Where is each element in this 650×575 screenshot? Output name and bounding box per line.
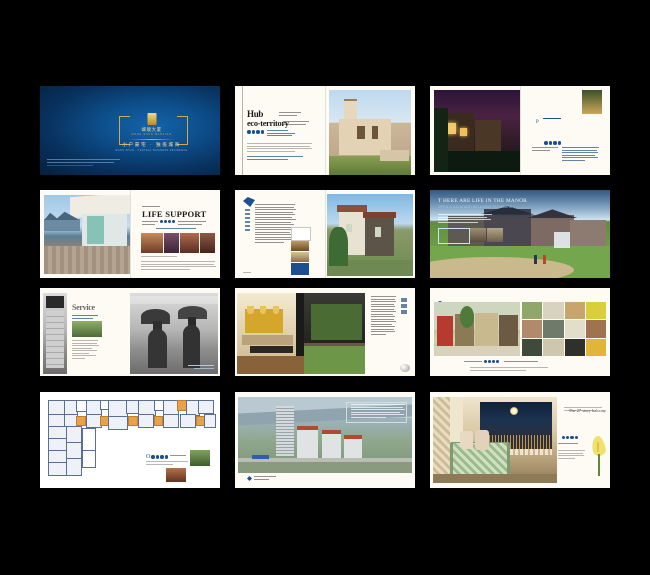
gallery-canvas: 嵘顺大厦 RONG SHUN MANSION 小户豪宅 · 独揽城商 RONG …	[0, 0, 650, 575]
thumb-strip	[141, 233, 215, 253]
plan-thumb-1	[190, 450, 210, 466]
seal-icon	[400, 364, 410, 372]
page-left: Hub eco-territory	[235, 86, 325, 175]
inset-blank	[291, 227, 311, 241]
night-body	[562, 147, 600, 162]
logo-mark: P	[536, 110, 561, 128]
photo-villa	[329, 90, 411, 175]
inset-blue	[291, 263, 309, 275]
spread-service[interactable]: Service	[40, 288, 220, 376]
night-badge-dots	[544, 141, 561, 145]
crest-icon	[147, 113, 156, 125]
spread-night-villa[interactable]: P	[430, 86, 610, 175]
manor-inset-3	[554, 232, 570, 248]
cover-tagline: 小户豪宅 · 独揽城商	[122, 142, 180, 148]
shopping-footer-body	[470, 367, 550, 372]
spread-balcony[interactable]: The 27 story balcony	[430, 392, 610, 488]
bracket-left	[119, 116, 130, 145]
diamond-icon	[247, 476, 252, 481]
cover-divider	[129, 139, 175, 140]
shopping-tile-grid	[522, 302, 606, 356]
manor-body	[438, 214, 494, 224]
cover-subline: RONG SHUN · CENTRAL BUSINESS RESIDENCE	[116, 150, 188, 152]
aerial-callout	[351, 404, 407, 419]
hub-body	[247, 143, 313, 153]
service-headline: Service	[72, 304, 95, 312]
service-body	[72, 340, 100, 360]
balcony-badge-dots	[562, 436, 578, 439]
spread-vertical-copy[interactable]	[235, 190, 415, 278]
page-left	[235, 190, 325, 278]
ls-badge-dots	[160, 220, 175, 223]
spread-interior[interactable]	[235, 288, 415, 376]
page-left	[40, 190, 130, 278]
page-left: Service	[40, 288, 130, 376]
spread-shopping[interactable]: S hopping	[430, 288, 610, 376]
inset-room	[291, 241, 309, 251]
calla-lily-icon	[590, 436, 606, 476]
photo-dining	[237, 293, 365, 374]
ls-body	[141, 261, 217, 271]
manor-inset-1	[470, 228, 486, 242]
hub-badge-dots	[247, 130, 264, 134]
cover-brand-cn: 嵘顺大厦	[142, 127, 162, 133]
plan-legend-glyph: O	[146, 454, 150, 460]
life-support-headline: LIFE SUPPORT	[142, 210, 206, 219]
spread-manor[interactable]: T HERE ARE LIFE IN THE MANOR OPEN A CALM…	[430, 190, 610, 278]
shopping-footer-dots	[484, 360, 499, 363]
photo-night-courtyard	[434, 90, 520, 172]
vertical-title	[245, 209, 250, 233]
spread-hub[interactable]: Hub eco-territory	[235, 86, 415, 175]
photo-balcony	[433, 397, 557, 483]
aerial-footer	[247, 476, 276, 481]
photo-lake-terrace	[44, 195, 130, 274]
service-inset	[72, 321, 102, 337]
spread-life-support[interactable]: LIFE SUPPORT	[40, 190, 220, 278]
inset-photo	[582, 90, 602, 114]
page-right: LIFE SUPPORT	[130, 190, 220, 278]
interior-badge	[401, 298, 407, 316]
photo-townhouse	[327, 194, 413, 276]
page-right	[130, 288, 220, 376]
interior-body	[371, 296, 397, 336]
page-left	[430, 86, 520, 175]
photo-keypad	[43, 293, 67, 374]
manor-frame	[438, 228, 470, 244]
balcony-body	[558, 450, 586, 460]
inset-lobby	[291, 252, 309, 262]
page-right	[325, 86, 415, 175]
bracket-right	[177, 116, 188, 145]
manor-inset-2	[487, 228, 503, 242]
spread-floor-plan[interactable]: O	[40, 392, 220, 488]
photo-rain-street	[130, 293, 218, 374]
page-right	[325, 190, 415, 278]
manor-headline: T HERE ARE LIFE IN THE MANOR	[438, 198, 527, 204]
bird-icon	[243, 197, 255, 207]
plan-legend: O	[146, 454, 168, 460]
spread-aerial[interactable]	[235, 392, 415, 488]
manor-headline-sub: OPEN A CALM AND RELAXING PLEASURE	[438, 205, 527, 209]
spread-cover[interactable]: 嵘顺大厦 RONG SHUN MANSION 小户豪宅 · 独揽城商 RONG …	[40, 86, 220, 175]
photo-retail-street	[434, 302, 520, 356]
cover-brand-en: RONG SHUN MANSION	[132, 133, 172, 136]
plan-thumb-2	[166, 468, 186, 482]
cover-footer	[47, 159, 123, 167]
service-overlay	[188, 365, 214, 370]
manor-headline-block: T HERE ARE LIFE IN THE MANOR OPEN A CALM…	[438, 198, 527, 209]
page-right: P	[520, 86, 610, 175]
